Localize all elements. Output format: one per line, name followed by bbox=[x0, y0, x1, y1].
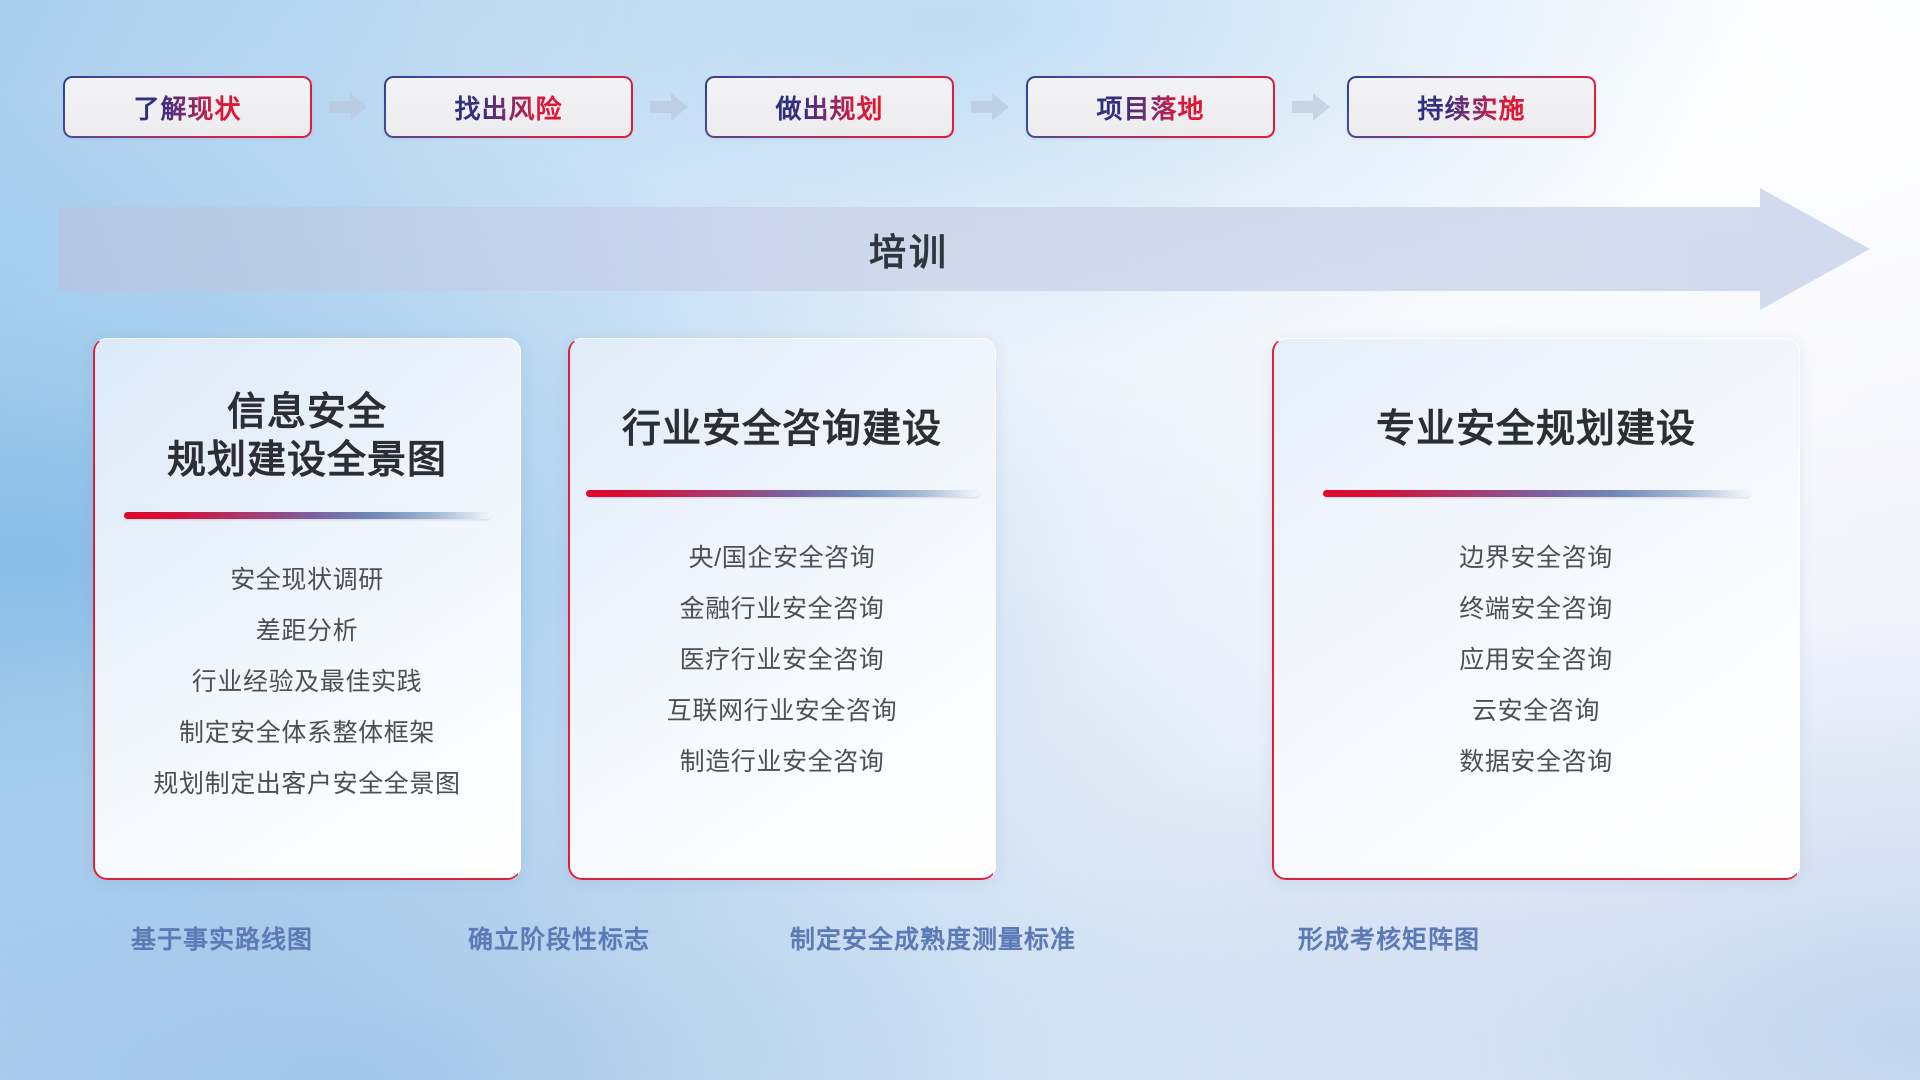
list-item: 制造行业安全咨询 bbox=[680, 737, 885, 788]
offering-card-2-title: 行业安全咨询建设 bbox=[622, 406, 942, 454]
list-item: 差距分析 bbox=[256, 606, 358, 657]
list-item: 金融行业安全咨询 bbox=[680, 584, 885, 635]
chevron-right-arrow-icon bbox=[329, 93, 367, 121]
training-banner-title: 培训 bbox=[58, 207, 1760, 291]
process-step-5[interactable]: 持续实施 bbox=[1347, 76, 1596, 138]
offering-card-1[interactable]: 信息安全 规划建设全景图 安全现状调研 差距分析 行业经验及最佳实践 制定安全体… bbox=[93, 338, 521, 880]
process-step-1[interactable]: 了解现状 bbox=[63, 76, 312, 138]
process-step-2-label: 找出风险 bbox=[454, 89, 562, 126]
list-item: 央/国企安全咨询 bbox=[689, 533, 876, 584]
outcome-label-1: 基于事实路线图 bbox=[131, 920, 313, 956]
process-step-bar: 了解现状 找出风险 做出规划 项目落地 持续实施 bbox=[0, 64, 1920, 150]
process-step-4[interactable]: 项目落地 bbox=[1026, 76, 1275, 138]
list-item: 边界安全咨询 bbox=[1459, 533, 1613, 584]
list-item: 行业经验及最佳实践 bbox=[192, 657, 422, 708]
list-item: 数据安全咨询 bbox=[1459, 737, 1613, 788]
offering-card-3-divider bbox=[1323, 490, 1750, 497]
list-item: 安全现状调研 bbox=[230, 555, 384, 606]
offering-card-2[interactable]: 行业安全咨询建设 央/国企安全咨询 金融行业安全咨询 医疗行业安全咨询 互联网行… bbox=[568, 338, 996, 880]
outcome-label-2: 确立阶段性标志 bbox=[468, 920, 650, 956]
process-step-1-label: 了解现状 bbox=[133, 89, 241, 126]
outcome-label-3: 制定安全成熟度测量标准 bbox=[790, 920, 1076, 956]
outcome-label-4: 形成考核矩阵图 bbox=[1298, 920, 1480, 956]
process-step-4-label: 项目落地 bbox=[1096, 89, 1204, 126]
offering-card-group: 信息安全 规划建设全景图 安全现状调研 差距分析 行业经验及最佳实践 制定安全体… bbox=[0, 338, 1920, 880]
process-step-5-label: 持续实施 bbox=[1417, 89, 1525, 126]
offering-card-1-divider bbox=[124, 512, 491, 519]
offering-card-1-list: 安全现状调研 差距分析 行业经验及最佳实践 制定安全体系整体框架 规划制定出客户… bbox=[153, 555, 460, 810]
chevron-right-arrow-icon bbox=[971, 93, 1009, 121]
training-banner: 培训 bbox=[58, 207, 1870, 291]
offering-card-1-title: 信息安全 规划建设全景图 bbox=[167, 389, 447, 484]
process-step-3[interactable]: 做出规划 bbox=[705, 76, 954, 138]
offering-card-2-list: 央/国企安全咨询 金融行业安全咨询 医疗行业安全咨询 互联网行业安全咨询 制造行… bbox=[667, 533, 897, 788]
offering-card-3-list: 边界安全咨询 终端安全咨询 应用安全咨询 云安全咨询 数据安全咨询 bbox=[1459, 533, 1613, 788]
offering-card-2-divider bbox=[586, 490, 979, 497]
process-step-3-label: 做出规划 bbox=[775, 89, 883, 126]
offering-card-3-title: 专业安全规划建设 bbox=[1376, 406, 1696, 454]
list-item: 云安全咨询 bbox=[1472, 686, 1600, 737]
list-item: 医疗行业安全咨询 bbox=[680, 635, 885, 686]
chevron-right-arrow-icon bbox=[1292, 93, 1330, 121]
process-step-2[interactable]: 找出风险 bbox=[384, 76, 633, 138]
list-item: 应用安全咨询 bbox=[1459, 635, 1613, 686]
offering-card-3[interactable]: 专业安全规划建设 边界安全咨询 终端安全咨询 应用安全咨询 云安全咨询 数据安全… bbox=[1272, 338, 1800, 880]
list-item: 互联网行业安全咨询 bbox=[667, 686, 897, 737]
list-item: 规划制定出客户安全全景图 bbox=[153, 759, 460, 810]
list-item: 终端安全咨询 bbox=[1459, 584, 1613, 635]
outcome-label-row: 基于事实路线图 确立阶段性标志 制定安全成熟度测量标准 形成考核矩阵图 bbox=[0, 920, 1920, 968]
chevron-right-arrow-icon bbox=[650, 93, 688, 121]
list-item: 制定安全体系整体框架 bbox=[179, 708, 435, 759]
training-banner-arrow-head-icon bbox=[1760, 188, 1870, 310]
